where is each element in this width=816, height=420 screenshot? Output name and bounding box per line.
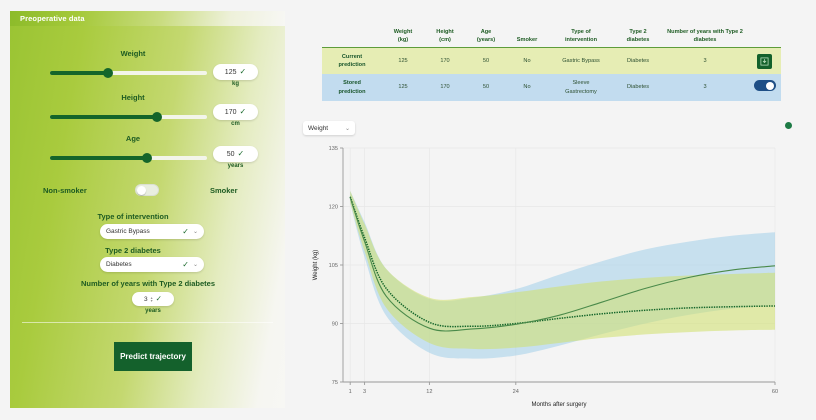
- height-slider[interactable]: [50, 115, 207, 119]
- years-value: 3: [144, 296, 148, 303]
- intervention-label: Type of intervention: [43, 212, 223, 221]
- th-actions: [748, 25, 781, 48]
- svg-text:Months after surgery: Months after surgery: [531, 402, 586, 408]
- years-label: Number of years with Type 2 diabetes: [28, 279, 268, 288]
- svg-text:60: 60: [772, 389, 778, 395]
- weight-slider[interactable]: [50, 71, 207, 75]
- cell-height: 170: [424, 74, 466, 100]
- years-unit: years: [132, 308, 174, 314]
- table-header-row: Weight (kg) Height (cm) Age (years) Sm: [322, 25, 781, 48]
- cell-intervention: Gastric Bypass: [548, 48, 614, 75]
- cell-weight: 125: [382, 74, 424, 100]
- table-row: Current prediction 125 170 50 No Gastric…: [322, 48, 781, 75]
- years-stepper[interactable]: 3 ▴▾ ✓: [132, 292, 174, 306]
- smoker-toggle-knob: [137, 186, 146, 195]
- chart-variable-select[interactable]: Weight ⌄: [303, 121, 355, 135]
- svg-text:135: 135: [329, 146, 338, 152]
- th-years: Number of years with Type 2 diabetes: [662, 25, 748, 48]
- th-diabetes: Type 2 diabetes: [614, 25, 662, 48]
- age-label: Age: [43, 134, 223, 143]
- svg-text:1: 1: [349, 389, 352, 395]
- cell-age: 50: [466, 48, 506, 75]
- svg-text:90: 90: [332, 322, 338, 328]
- check-icon: ✓: [182, 228, 189, 236]
- age-unit: years: [213, 163, 258, 169]
- th-age: Age (years): [466, 25, 506, 48]
- predict-trajectory-button[interactable]: Predict trajectory: [114, 342, 192, 371]
- height-slider-knob[interactable]: [152, 112, 162, 122]
- age-slider[interactable]: [50, 156, 207, 160]
- svg-text:24: 24: [513, 389, 519, 395]
- cell-height: 170: [424, 48, 466, 75]
- height-value-box[interactable]: 170 ✓: [213, 104, 258, 120]
- th-weight: Weight (kg): [382, 25, 424, 48]
- check-icon: ✓: [238, 150, 245, 158]
- svg-text:3: 3: [363, 389, 366, 395]
- app-root: Preoperative data Weight 125 ✓ kg Height…: [0, 0, 816, 420]
- th-height: Height (cm): [424, 25, 466, 48]
- non-smoker-label: Non-smoker: [43, 186, 87, 195]
- intervention-value: Gastric Bypass: [106, 228, 182, 235]
- check-icon: ✓: [239, 68, 246, 76]
- stored-prediction-toggle-knob: [766, 82, 774, 90]
- results-area: Weight (kg) Height (cm) Age (years) Sm: [286, 0, 816, 420]
- cell-smoker: No: [506, 74, 548, 100]
- smoker-label: Smoker: [210, 186, 238, 195]
- check-icon: ✓: [156, 295, 162, 303]
- th-smoker: Smoker: [506, 25, 548, 48]
- weight-slider-knob[interactable]: [103, 68, 113, 78]
- weight-label: Weight: [43, 49, 223, 58]
- diabetes-label: Type 2 diabetes: [43, 246, 223, 255]
- prediction-table: Weight (kg) Height (cm) Age (years) Sm: [322, 25, 781, 101]
- cell-action: [748, 74, 781, 100]
- age-value-box[interactable]: 50 ✓: [213, 146, 258, 162]
- table-row: Stored prediction 125 170 50 No Sleeve G…: [322, 74, 781, 100]
- cell-age: 50: [466, 74, 506, 100]
- cell-action: [748, 48, 781, 75]
- row-label-stored: Stored prediction: [322, 74, 382, 100]
- chevron-down-icon[interactable]: ⌄: [345, 125, 350, 132]
- chart-variable-value: Weight: [308, 125, 345, 132]
- svg-text:105: 105: [329, 263, 338, 269]
- height-value: 170: [225, 109, 237, 116]
- th-intervention: Type of intervention: [548, 25, 614, 48]
- cell-diabetes: Diabetes: [614, 74, 662, 100]
- age-slider-fill: [50, 156, 147, 160]
- stepper-arrows-icon[interactable]: ▴▾: [151, 296, 153, 302]
- status-indicator-dot: [785, 122, 792, 129]
- height-label: Height: [43, 93, 223, 102]
- check-icon: ✓: [239, 108, 246, 116]
- save-prediction-button[interactable]: [757, 54, 772, 69]
- height-slider-fill: [50, 115, 157, 119]
- diabetes-value: Diabetes: [106, 261, 182, 268]
- cell-intervention: Sleeve Gastrectomy: [548, 74, 614, 100]
- weight-unit: kg: [213, 81, 258, 87]
- smoker-toggle[interactable]: [135, 184, 159, 196]
- panel-divider: [22, 322, 273, 323]
- check-icon: ✓: [182, 261, 189, 269]
- svg-text:120: 120: [329, 205, 338, 211]
- th-rowname: [322, 25, 382, 48]
- chevron-down-icon[interactable]: ⌄: [193, 261, 198, 268]
- row-label-current: Current prediction: [322, 48, 382, 75]
- page-title: Preoperative data: [20, 14, 85, 23]
- svg-text:12: 12: [426, 389, 432, 395]
- intervention-select[interactable]: Gastric Bypass ✓ ⌄: [100, 224, 204, 239]
- chart-svg: 759010512013513122460Weight (kg)Months a…: [303, 140, 803, 415]
- cell-years: 3: [662, 74, 748, 100]
- cell-weight: 125: [382, 48, 424, 75]
- cell-diabetes: Diabetes: [614, 48, 662, 75]
- svg-text:75: 75: [332, 380, 338, 386]
- age-slider-knob[interactable]: [142, 153, 152, 163]
- cell-years: 3: [662, 48, 748, 75]
- weight-slider-fill: [50, 71, 108, 75]
- svg-text:Weight (kg): Weight (kg): [313, 250, 319, 281]
- stored-prediction-toggle[interactable]: [754, 80, 776, 91]
- height-unit: cm: [213, 121, 258, 127]
- trajectory-chart: 759010512013513122460Weight (kg)Months a…: [303, 140, 803, 415]
- age-value: 50: [227, 151, 235, 158]
- diabetes-select[interactable]: Diabetes ✓ ⌄: [100, 257, 204, 272]
- preoperative-data-panel: Preoperative data Weight 125 ✓ kg Height…: [10, 11, 285, 408]
- chevron-down-icon[interactable]: ⌄: [193, 228, 198, 235]
- cell-smoker: No: [506, 48, 548, 75]
- weight-value: 125: [225, 69, 237, 76]
- smoker-row: Non-smoker Smoker: [10, 183, 285, 199]
- weight-value-box[interactable]: 125 ✓: [213, 64, 258, 80]
